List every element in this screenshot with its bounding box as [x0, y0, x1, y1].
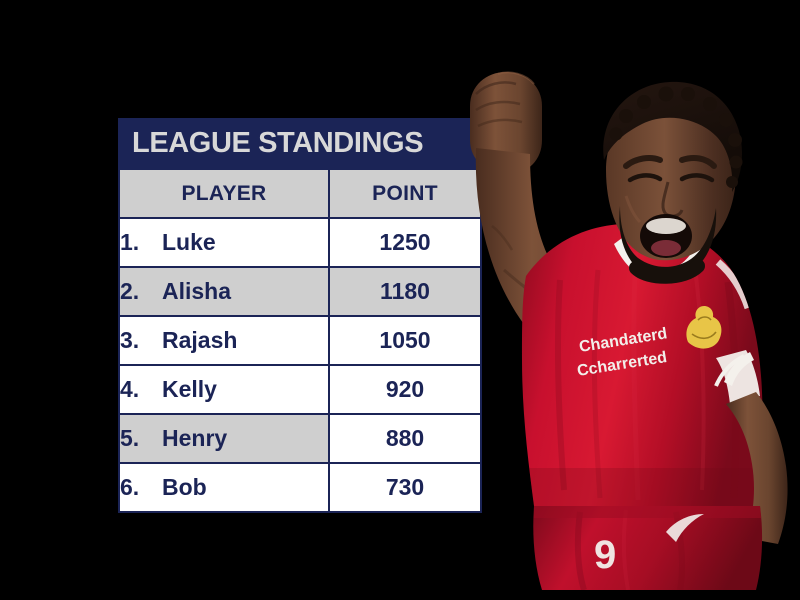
- column-header-player: PLAYER: [119, 169, 329, 218]
- player-cell-inner: 2.Alisha: [120, 278, 328, 305]
- player-cell-inner: 4.Kelly: [120, 376, 328, 403]
- player-cell-inner: 5.Henry: [120, 425, 328, 452]
- jersey: [522, 224, 763, 506]
- rank-number: 3.: [120, 327, 162, 354]
- player-name: Luke: [162, 229, 216, 256]
- shorts-number: 9: [594, 533, 616, 577]
- points-cell: 920: [329, 365, 481, 414]
- table-row[interactable]: 1.Luke1250: [119, 218, 481, 267]
- raised-arm: [476, 148, 636, 386]
- points-cell: 730: [329, 463, 481, 512]
- column-header-points-label: POINT: [330, 182, 480, 206]
- table-header: PLAYER POINT: [119, 169, 481, 218]
- column-header-player-label: PLAYER: [120, 182, 328, 206]
- right-sleeve-cuff: [716, 350, 760, 404]
- player-name: Kelly: [162, 376, 217, 403]
- club-crest: [686, 306, 721, 349]
- points-cell: 880: [329, 414, 481, 463]
- points-cell: 1250: [329, 218, 481, 267]
- column-header-points: POINT: [329, 169, 481, 218]
- rank-number: 1.: [120, 229, 162, 256]
- player-cell-inner: 6.Bob: [120, 474, 328, 501]
- table-body: 1.Luke12502.Alisha11803.Rajash10504.Kell…: [119, 218, 481, 512]
- raised-fist: [470, 72, 542, 174]
- kit-maker-logo: [716, 352, 754, 386]
- rank-number: 6.: [120, 474, 162, 501]
- rank-number: 2.: [120, 278, 162, 305]
- table-header-row: PLAYER POINT: [119, 169, 481, 218]
- player-cell: 4.Kelly: [119, 365, 329, 414]
- beard: [619, 206, 716, 282]
- table-row[interactable]: 3.Rajash1050: [119, 316, 481, 365]
- page-title: LEAGUE STANDINGS: [132, 129, 423, 158]
- footballer-photo: Chandaterd Ccharrerted: [430, 20, 800, 590]
- table-row[interactable]: 2.Alisha1180: [119, 267, 481, 316]
- shorts-logo: [666, 514, 704, 542]
- player-name: Henry: [162, 425, 227, 452]
- player-cell: 6.Bob: [119, 463, 329, 512]
- player-head: [603, 82, 742, 282]
- standings-table: PLAYER POINT 1.Luke12502.Alisha11803.Raj…: [118, 168, 482, 513]
- player-name: Alisha: [162, 278, 231, 305]
- sleeve-cuff: [580, 328, 646, 396]
- player-name: Bob: [162, 474, 207, 501]
- rank-number: 5.: [120, 425, 162, 452]
- table-row[interactable]: 5.Henry880: [119, 414, 481, 463]
- jersey-sponsor-line-2: Ccharrerted: [576, 349, 668, 380]
- points-cell: 1180: [329, 267, 481, 316]
- player-cell: 3.Rajash: [119, 316, 329, 365]
- jersey-sponsor-line-1: Chandaterd: [578, 325, 668, 356]
- hair-twists: [610, 87, 743, 189]
- table-row[interactable]: 4.Kelly920: [119, 365, 481, 414]
- player-cell-inner: 1.Luke: [120, 229, 328, 256]
- player-cell: 2.Alisha: [119, 267, 329, 316]
- shorts: [533, 506, 762, 590]
- standings-card: LEAGUE STANDINGS PLAYER POINT 1.Luke1250…: [118, 118, 480, 513]
- player-cell: 5.Henry: [119, 414, 329, 463]
- card-title-bar: LEAGUE STANDINGS: [118, 118, 480, 168]
- right-arm: [726, 392, 788, 544]
- rank-number: 4.: [120, 376, 162, 403]
- table-row[interactable]: 6.Bob730: [119, 463, 481, 512]
- poster-canvas: LEAGUE STANDINGS PLAYER POINT 1.Luke1250…: [0, 0, 800, 600]
- hair: [603, 82, 742, 192]
- player-cell: 1.Luke: [119, 218, 329, 267]
- points-cell: 1050: [329, 316, 481, 365]
- player-name: Rajash: [162, 327, 237, 354]
- open-mouth: [640, 214, 692, 258]
- player-cell-inner: 3.Rajash: [120, 327, 328, 354]
